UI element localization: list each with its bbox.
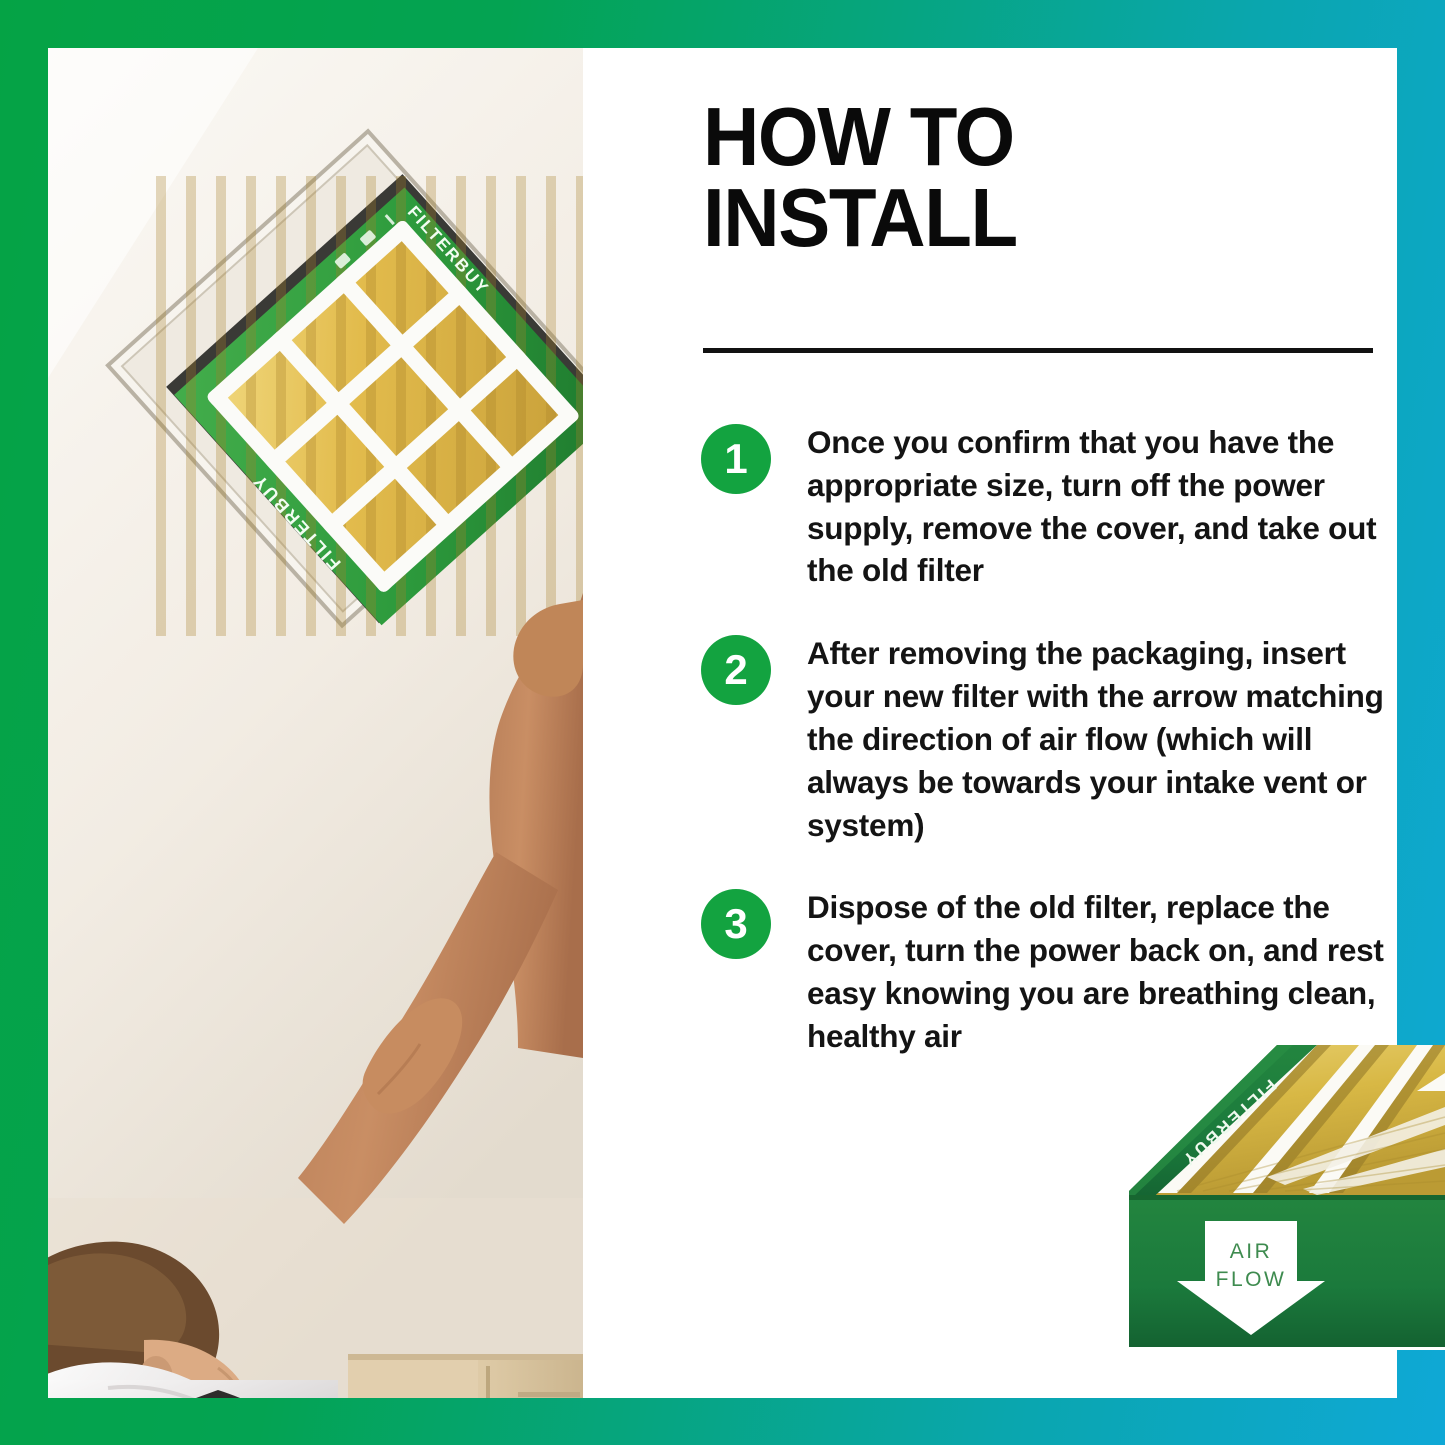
air-flow-label-line-2: FLOW bbox=[1216, 1268, 1287, 1291]
page-title-line-1: HOW TO bbox=[703, 96, 1342, 177]
install-photo-illustration: FILTERBUY FILTERBUY bbox=[48, 48, 583, 1398]
install-photo: FILTERBUY FILTERBUY bbox=[48, 48, 583, 1398]
air-flow-label-line-1: AIR bbox=[1230, 1240, 1273, 1263]
step-text-3: Dispose of the old filter, replace the c… bbox=[807, 886, 1391, 1057]
list-item: 3 Dispose of the old filter, replace the… bbox=[701, 886, 1391, 1057]
step-text-2: After removing the packaging, insert you… bbox=[807, 632, 1391, 846]
list-item: 2 After removing the packaging, insert y… bbox=[701, 632, 1391, 846]
steps-list: 1 Once you confirm that you have the app… bbox=[701, 421, 1391, 1058]
step-number-badge-3: 3 bbox=[701, 889, 771, 959]
step-number-badge-1: 1 bbox=[701, 424, 771, 494]
step-number-badge-2: 2 bbox=[701, 635, 771, 705]
step-text-1: Once you confirm that you have the appro… bbox=[807, 421, 1391, 592]
list-item: 1 Once you confirm that you have the app… bbox=[701, 421, 1391, 592]
page-title-line-2: INSTALL bbox=[703, 177, 1342, 258]
title-divider-rule bbox=[703, 348, 1373, 353]
filter-product-illustration: FILTERBUY AIR FLOW bbox=[1117, 1045, 1445, 1350]
page-title: HOW TO INSTALL bbox=[703, 96, 1383, 259]
filter-product-photo: FILTERBUY AIR FLOW bbox=[1117, 1045, 1445, 1350]
promo-graphic-root: FILTERBUY FILTERBUY bbox=[0, 0, 1445, 1445]
